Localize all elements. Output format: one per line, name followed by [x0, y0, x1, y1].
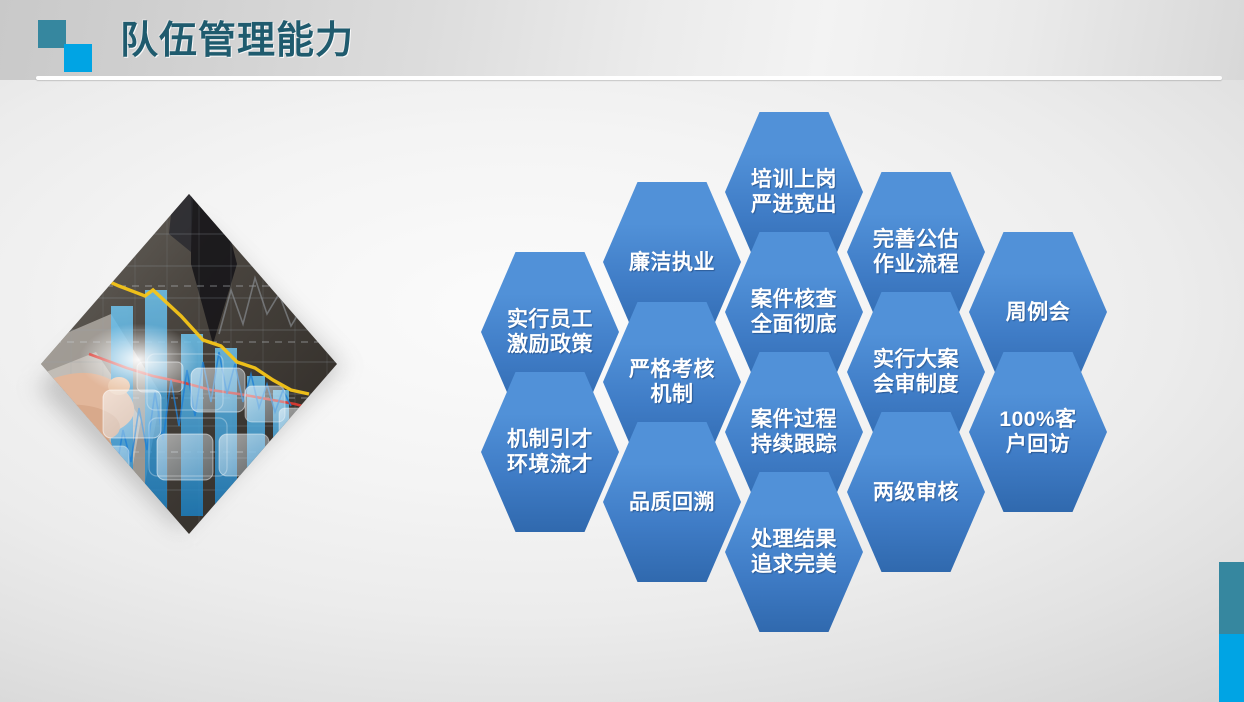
slide-canvas: 队伍管理能力 — [0, 0, 1244, 702]
accent-bar-teal — [1219, 562, 1244, 634]
hexagon-label: 周例会 — [1002, 300, 1075, 325]
hexagon-label: 处理结果 追求完美 — [747, 527, 841, 577]
hexagon-label: 案件过程 持续跟踪 — [747, 407, 841, 457]
hexagon-label: 实行员工 激励政策 — [503, 307, 597, 357]
hexagon-label: 完善公估 作业流程 — [869, 227, 963, 277]
accent-bar-blue — [1219, 634, 1244, 702]
hex-two-level-audit[interactable]: 两级审核 — [847, 412, 985, 572]
hex-customer-callback[interactable]: 100%客 户回访 — [969, 352, 1107, 512]
hexagon-label: 100%客 户回访 — [995, 407, 1080, 457]
hex-quality-traceback[interactable]: 品质回溯 — [603, 422, 741, 582]
hexagon-label: 廉洁执业 — [625, 250, 719, 275]
hexagon-label: 品质回溯 — [625, 490, 719, 515]
hexagon-label: 严格考核 机制 — [625, 357, 719, 407]
hexagon-label: 机制引才 环境流才 — [503, 427, 597, 477]
hex-talent-mechanism[interactable]: 机制引才 环境流才 — [481, 372, 619, 532]
hexagon-label: 实行大案 会审制度 — [869, 347, 963, 397]
hexagon-label: 案件核查 全面彻底 — [747, 287, 841, 337]
hexagon-label: 两级审核 — [869, 480, 963, 505]
hexagon-cluster: 实行员工 激励政策机制引才 环境流才廉洁执业严格考核 机制品质回溯培训上岗 严进… — [0, 0, 1244, 702]
hexagon-label: 培训上岗 严进宽出 — [747, 167, 841, 217]
hex-result-perfection[interactable]: 处理结果 追求完美 — [725, 472, 863, 632]
